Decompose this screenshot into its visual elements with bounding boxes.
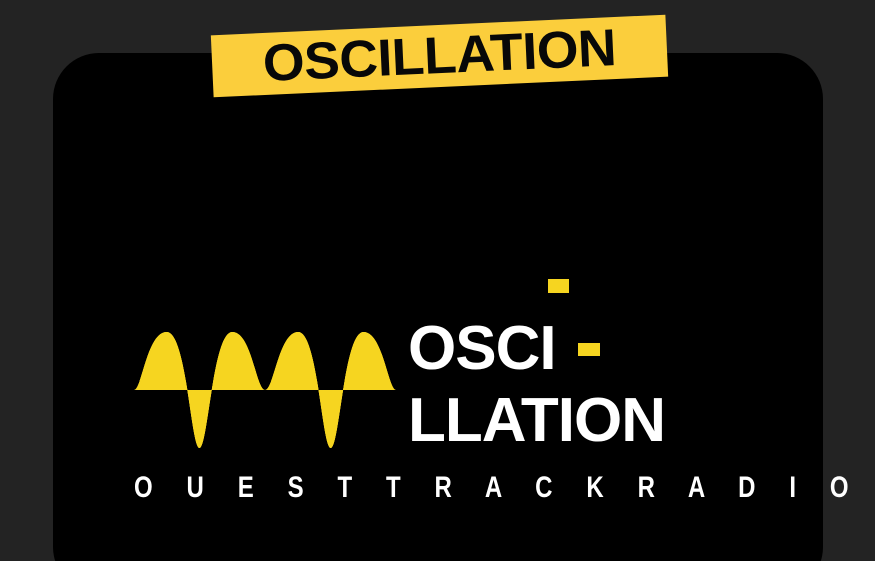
banner-label: OSCILLATION xyxy=(262,22,617,90)
logo-card xyxy=(53,53,823,561)
screen-canvas: OSCILLATION OSCI LLATION O U E S T T R A… xyxy=(0,0,875,561)
